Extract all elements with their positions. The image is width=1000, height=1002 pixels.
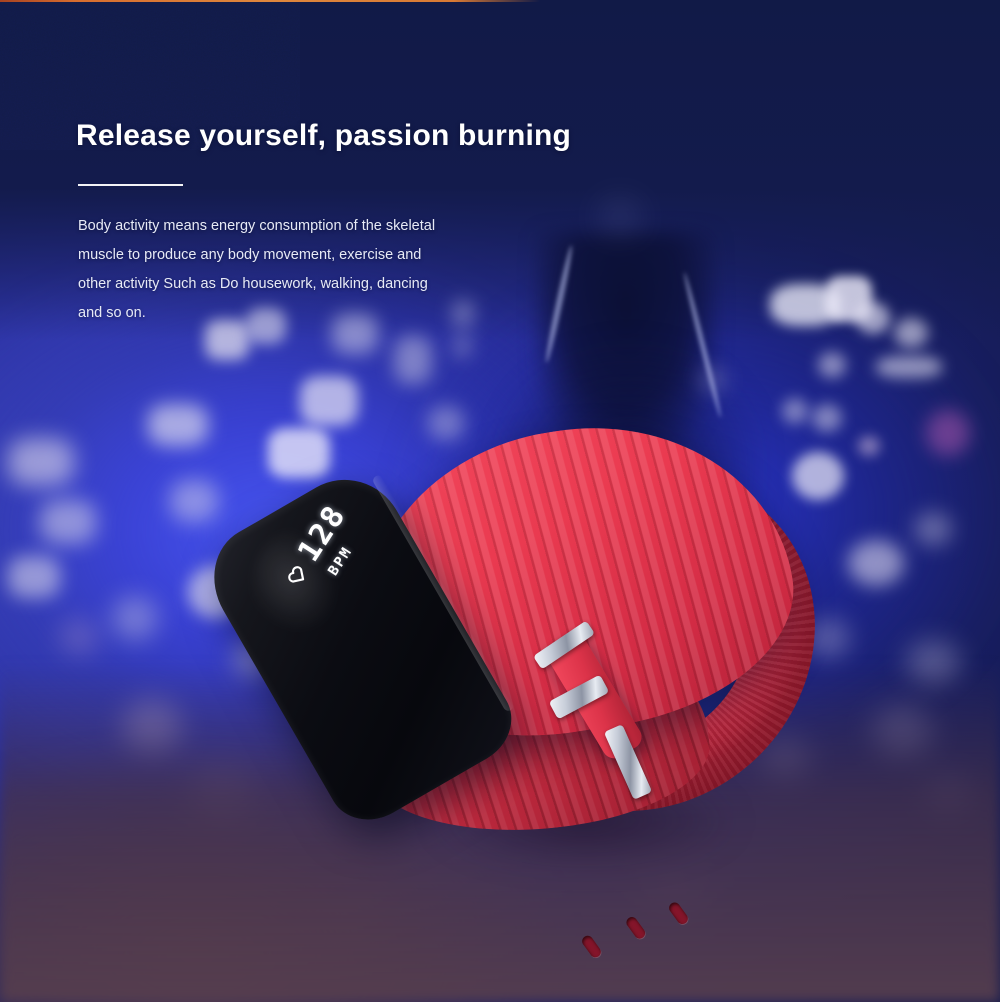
top-edge-artifact-line bbox=[0, 0, 540, 2]
body-paragraph: Body activity means energy consumption o… bbox=[78, 212, 636, 328]
body-line-1: Body activity means energy consumption o… bbox=[78, 212, 636, 241]
body-line-4: and so on. bbox=[78, 299, 636, 328]
copy-block: Release yourself, passion burning Body a… bbox=[76, 118, 636, 328]
page-title: Release yourself, passion burning bbox=[76, 118, 636, 154]
body-line-2: muscle to produce any body movement, exe… bbox=[78, 241, 636, 270]
title-underline-rule bbox=[78, 184, 183, 186]
product-banner: Release yourself, passion burning Body a… bbox=[0, 0, 1000, 1002]
fitness-tracker-product-image: 128 BPM bbox=[250, 425, 830, 875]
body-line-3: other activity Such as Do housework, wal… bbox=[78, 270, 636, 299]
